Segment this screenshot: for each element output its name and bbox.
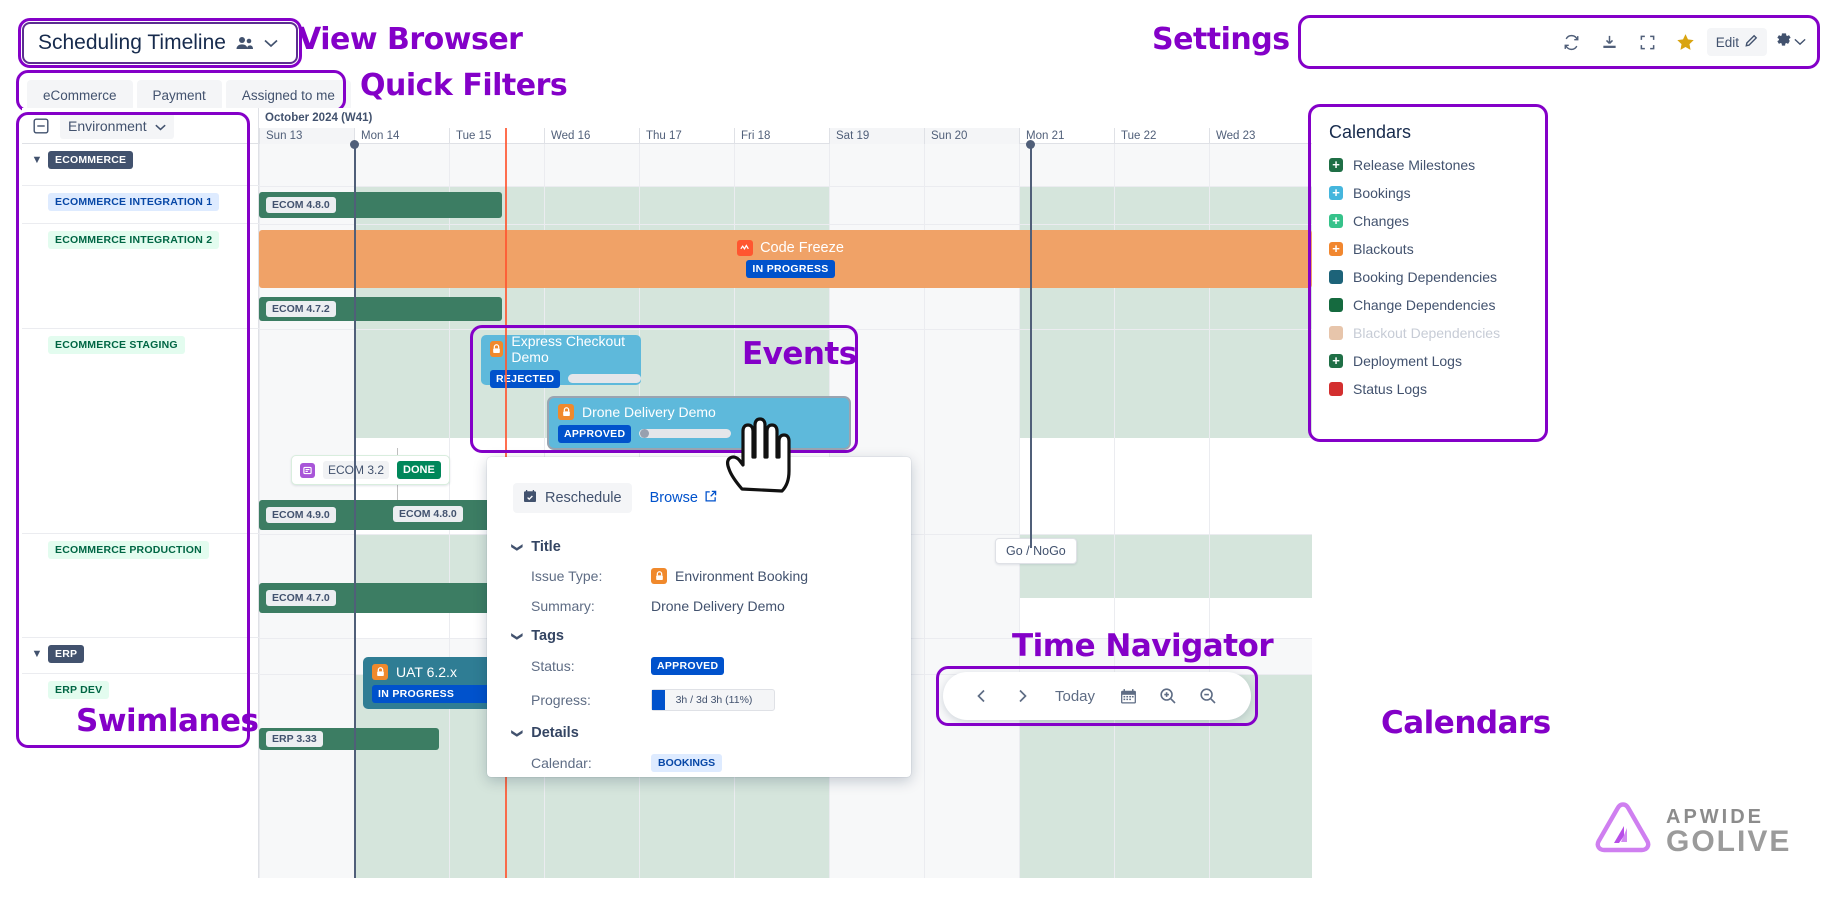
chevron-down-icon: ❯: [511, 728, 524, 737]
browse-label: Browse: [650, 490, 698, 506]
event-title: Express Checkout Demo: [511, 333, 641, 365]
calendar-icon[interactable]: [1111, 679, 1145, 713]
annotation-quick-filters: Quick Filters: [360, 68, 567, 103]
blackout-status-badge: IN PROGRESS: [746, 260, 834, 278]
annotation-events: Events: [742, 336, 857, 372]
event-progress-bar: [568, 374, 641, 383]
day-header-cell: Tue 22: [1114, 128, 1209, 144]
calendar-item-blackout-dependencies[interactable]: Blackout Dependencies: [1329, 325, 1527, 341]
environment-booking-icon: [490, 341, 503, 357]
release-bar-label: ERP 3.33: [266, 731, 323, 747]
swimlane-header: Environment: [22, 108, 258, 144]
detail-section-title[interactable]: ❯ Title: [513, 539, 889, 555]
annotation-swimlanes: Swimlanes: [76, 703, 258, 739]
calendar-item-status-logs[interactable]: Status Logs: [1329, 381, 1527, 397]
calendar-item-label: Booking Dependencies: [1353, 269, 1497, 285]
edit-button-label: Edit: [1716, 35, 1739, 50]
calendar-item-label: Bookings: [1353, 185, 1411, 201]
quick-filter-assigned-to-me[interactable]: Assigned to me: [226, 80, 351, 111]
calendar-item-blackouts[interactable]: Blackouts: [1329, 241, 1527, 257]
detail-field-value: Environment Booking: [651, 568, 808, 584]
detail-field-calendar: Calendar: BOOKINGS: [513, 754, 889, 772]
milestone-key: ECOM 3.2: [323, 461, 389, 479]
group-by-chevron-down-icon: [155, 118, 166, 134]
lane-separator: [259, 224, 1312, 225]
drag-marker-handle-2[interactable]: [1026, 140, 1035, 149]
detail-field-issue-type: Issue Type: Environment Booking: [513, 568, 889, 584]
settings-chevron-down-icon: [1794, 33, 1806, 51]
detail-section-label: Tags: [531, 628, 564, 644]
day-header-cell: Sun 13: [259, 128, 354, 144]
timeline-month-label: October 2024 (W41): [259, 108, 1312, 128]
detail-section-details[interactable]: ❯ Details: [513, 725, 889, 741]
blackout-title-row: Code Freeze: [737, 240, 844, 256]
mouse-cursor-hand-icon: [718, 415, 798, 502]
view-browser-chevron-down-icon[interactable]: [264, 39, 278, 48]
detail-field-value: Drone Delivery Demo: [651, 598, 785, 614]
event-title: UAT 6.2.x: [396, 664, 457, 680]
calendar-item-label: Deployment Logs: [1353, 353, 1462, 369]
lane-separator: [259, 186, 1312, 187]
swimlane-label: ECOMMERCE STAGING: [48, 336, 185, 354]
reschedule-button[interactable]: Reschedule: [513, 483, 632, 513]
group-caret-icon[interactable]: ▼: [22, 645, 48, 663]
group-by-label: Environment: [68, 118, 147, 134]
event-title: Drone Delivery Demo: [582, 404, 716, 420]
chevron-right-icon[interactable]: [1005, 679, 1039, 713]
detail-section-label: Details: [531, 725, 579, 741]
annotation-time-navigator: Time Navigator: [1012, 628, 1273, 664]
detail-field-label: Status:: [531, 658, 651, 674]
zoom-out-icon[interactable]: [1191, 679, 1225, 713]
zoom-in-icon[interactable]: [1151, 679, 1185, 713]
detail-field-label: Progress:: [531, 692, 651, 708]
day-header-cell: Fri 18: [734, 128, 829, 144]
go-nogo-marker[interactable]: Go / NoGo: [995, 538, 1077, 564]
today-button[interactable]: Today: [1045, 688, 1105, 705]
quick-filter-ecommerce[interactable]: eCommerce: [27, 80, 133, 111]
calendar-color-swatch-icon: [1329, 382, 1343, 396]
day-header-cell: Sun 20: [924, 128, 1019, 144]
chevron-left-icon[interactable]: [965, 679, 999, 713]
calendar-item-changes[interactable]: Changes: [1329, 213, 1527, 229]
swimlane-label: ERP: [48, 645, 84, 663]
lane-separator: [259, 329, 1312, 330]
milestone-status-badge: DONE: [397, 461, 441, 479]
collapse-icon[interactable]: [30, 115, 52, 137]
calendar-item-change-dependencies[interactable]: Change Dependencies: [1329, 297, 1527, 313]
annotation-view-browser: View Browser: [298, 22, 522, 57]
detail-field-label: Issue Type:: [531, 568, 651, 584]
swimlane-label: ECOMMERCE PRODUCTION: [48, 541, 209, 559]
swimlane-label: ERP DEV: [48, 681, 109, 699]
swimlane-ecommerce-staging[interactable]: ECOMMERCE STAGING: [22, 329, 259, 534]
event-detail-panel[interactable]: Reschedule Browse ❯ Title Issue Type: En…: [487, 457, 911, 777]
detail-section-label: Title: [531, 539, 561, 555]
calendar-color-swatch-icon: [1329, 214, 1343, 228]
drag-marker-line-2[interactable]: [1030, 144, 1032, 548]
edit-button[interactable]: Edit: [1707, 28, 1767, 56]
blackout-title: Code Freeze: [760, 240, 844, 256]
blackout-bar[interactable]: Code Freeze IN PROGRESS: [259, 230, 1312, 288]
day-header-cell: Thu 17: [639, 128, 734, 144]
chevron-down-icon: ❯: [511, 631, 524, 640]
milestone-ecom-3-2[interactable]: ECOM 3.2 DONE: [291, 455, 450, 485]
annotation-settings: Settings: [1152, 22, 1290, 57]
environment-booking-icon: [558, 404, 574, 420]
calendar-item-label: Status Logs: [1353, 381, 1427, 397]
swimlane-label: ECOMMERCE INTEGRATION 1: [48, 193, 219, 211]
environment-booking-icon: [372, 664, 388, 680]
chevron-down-icon: ❯: [511, 542, 524, 551]
swimlane-label: ECOMMERCE INTEGRATION 2: [48, 231, 219, 249]
release-bar-label: ECOM 4.7.0: [266, 590, 336, 606]
day-header-cell: Mon 14: [354, 128, 449, 144]
calendar-color-swatch-icon: [1329, 158, 1343, 172]
event-status-row: APPROVED: [558, 425, 849, 443]
apwide-golive-wordmark: APWIDE GOLIVE: [1666, 807, 1791, 857]
refresh-icon[interactable]: [1555, 26, 1589, 58]
swimlane-group-ecommerce[interactable]: ▼ ECOMMERCE: [22, 144, 259, 186]
swimlane-ecommerce-production[interactable]: ECOMMERCE PRODUCTION: [22, 534, 259, 638]
people-icon: [236, 36, 254, 50]
logo-line-golive: GOLIVE: [1666, 827, 1791, 857]
detail-calendar-badge: BOOKINGS: [651, 754, 722, 772]
detail-field-status: Status: APPROVED: [513, 657, 889, 675]
calendar-item-label: Blackout Dependencies: [1353, 325, 1500, 341]
gear-icon: [1775, 31, 1792, 53]
annotation-calendars: Calendars: [1381, 705, 1551, 741]
calendar-item-bookings[interactable]: Bookings: [1329, 185, 1527, 201]
apwide-golive-logo: APWIDE GOLIVE: [1592, 800, 1791, 863]
drag-marker-handle-1[interactable]: [350, 140, 359, 149]
view-browser-title: Scheduling Timeline: [38, 31, 226, 55]
day-header-cell: Wed 16: [544, 128, 639, 144]
browse-link[interactable]: Browse: [650, 490, 717, 507]
calendar-color-swatch-icon: [1329, 354, 1343, 368]
detail-field-label: Summary:: [531, 598, 651, 614]
calendar-item-deployment-logs[interactable]: Deployment Logs: [1329, 353, 1527, 369]
event-status-badge: APPROVED: [558, 425, 631, 443]
environment-booking-icon: [651, 568, 667, 584]
swimlane-label: ECOMMERCE: [48, 151, 133, 169]
swimlane-group-erp[interactable]: ▼ ERP: [22, 638, 259, 674]
fullscreen-icon[interactable]: [1631, 26, 1665, 58]
issue-type-text: Environment Booking: [675, 568, 808, 584]
time-navigator: Today: [943, 672, 1251, 720]
release-bar[interactable]: ECOM 4.8.0: [259, 192, 502, 218]
release-bar[interactable]: ECOM 4.7.2: [259, 297, 502, 321]
event-title-row: Drone Delivery Demo: [558, 404, 849, 420]
day-header-cell: Tue 15: [449, 128, 544, 144]
logo-line-apwide: APWIDE: [1666, 807, 1791, 827]
calendar-color-swatch-icon: [1329, 186, 1343, 200]
calendar-color-swatch-icon: [1329, 242, 1343, 256]
swimlane-ecommerce-integration-1[interactable]: ECOMMERCE INTEGRATION 1: [22, 186, 259, 224]
calendar-icon: [523, 489, 537, 507]
calendar-color-swatch-icon: [1329, 298, 1343, 312]
release-bar-label: ECOM 4.8.0: [393, 506, 463, 522]
calendar-item-label: Changes: [1353, 213, 1409, 229]
release-bar-label: ECOM 4.8.0: [266, 197, 336, 213]
drag-marker-line-1[interactable]: [354, 144, 356, 878]
blackout-icon: [737, 240, 753, 256]
star-icon[interactable]: [1669, 26, 1703, 58]
calendars-title: Calendars: [1329, 122, 1527, 143]
detail-progress-text: 3h / 3d 3h (11%): [652, 690, 776, 710]
event-status-badge: REJECTED: [490, 370, 560, 388]
detail-section-tags[interactable]: ❯ Tags: [513, 628, 889, 644]
release-bar-label: ECOM 4.7.2: [266, 301, 336, 317]
settings-bar: Edit: [1547, 18, 1818, 66]
group-by-select[interactable]: Environment: [60, 113, 174, 139]
swimlane-ecommerce-integration-2[interactable]: ECOMMERCE INTEGRATION 2: [22, 224, 259, 329]
release-bar-secondary-label: ECOM 4.8.0: [393, 504, 463, 522]
day-header-cell: Sat 19: [829, 128, 924, 144]
detail-field-summary: Summary: Drone Delivery Demo: [513, 598, 889, 614]
swimlane-column: Environment ▼ ECOMMERCE ECOMMERCE INTEGR…: [22, 108, 259, 878]
calendar-item-booking-dependencies[interactable]: Booking Dependencies: [1329, 269, 1527, 285]
calendar-color-swatch-icon: [1329, 326, 1343, 340]
calendar-color-swatch-icon: [1329, 270, 1343, 284]
calendar-item-release-milestones[interactable]: Release Milestones: [1329, 157, 1527, 173]
release-bar-label: ECOM 4.9.0: [266, 507, 336, 523]
timeline-day-header: Sun 13 Mon 14 Tue 15 Wed 16 Thu 17 Fri 1…: [259, 128, 1312, 144]
apwide-triangle-icon: [1592, 800, 1654, 863]
quick-filter-payment[interactable]: Payment: [137, 80, 222, 111]
calendar-item-label: Release Milestones: [1353, 157, 1475, 173]
detail-field-progress: Progress: 3h / 3d 3h (11%): [513, 689, 889, 711]
release-bar[interactable]: ERP 3.33: [259, 728, 439, 750]
event-status-row: REJECTED: [490, 370, 641, 388]
calendar-item-label: Blackouts: [1353, 241, 1414, 257]
reschedule-label: Reschedule: [545, 490, 622, 506]
detail-field-label: Calendar:: [531, 755, 651, 771]
calendars-panel: Calendars Release Milestones Bookings Ch…: [1313, 108, 1543, 438]
milestone-icon: [300, 463, 315, 478]
pencil-icon: [1745, 34, 1758, 50]
day-header-cell: Wed 23: [1209, 128, 1312, 144]
event-title-row: Express Checkout Demo: [490, 333, 641, 365]
external-link-icon: [704, 490, 717, 507]
download-icon[interactable]: [1593, 26, 1627, 58]
progress-knob[interactable]: [640, 429, 649, 438]
detail-status-badge: APPROVED: [651, 657, 724, 675]
settings-menu-button[interactable]: [1771, 31, 1810, 53]
calendar-item-label: Change Dependencies: [1353, 297, 1495, 313]
detail-actions: Reschedule Browse: [513, 483, 889, 513]
view-browser[interactable]: Scheduling Timeline: [22, 22, 298, 64]
event-card-drone-delivery-demo[interactable]: Drone Delivery Demo APPROVED: [549, 398, 849, 448]
detail-progress-bar: 3h / 3d 3h (11%): [651, 689, 775, 711]
go-nogo-label: Go / NoGo: [1006, 544, 1066, 558]
group-caret-icon[interactable]: ▼: [22, 151, 48, 169]
